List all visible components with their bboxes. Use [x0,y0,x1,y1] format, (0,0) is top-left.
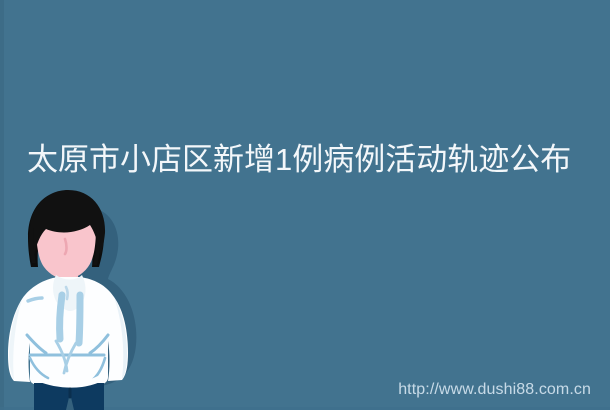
watermark-url: http://www.dushi88.com.cn [398,381,591,399]
news-banner: 太原市小店区新增1例病例活动轨迹公布 http://www.dushi88.co… [0,0,610,410]
drawstring-left [60,295,62,339]
drawstring-right [79,295,80,343]
person-illustration [0,183,150,410]
page-title: 太原市小店区新增1例病例活动轨迹公布 [27,141,593,179]
